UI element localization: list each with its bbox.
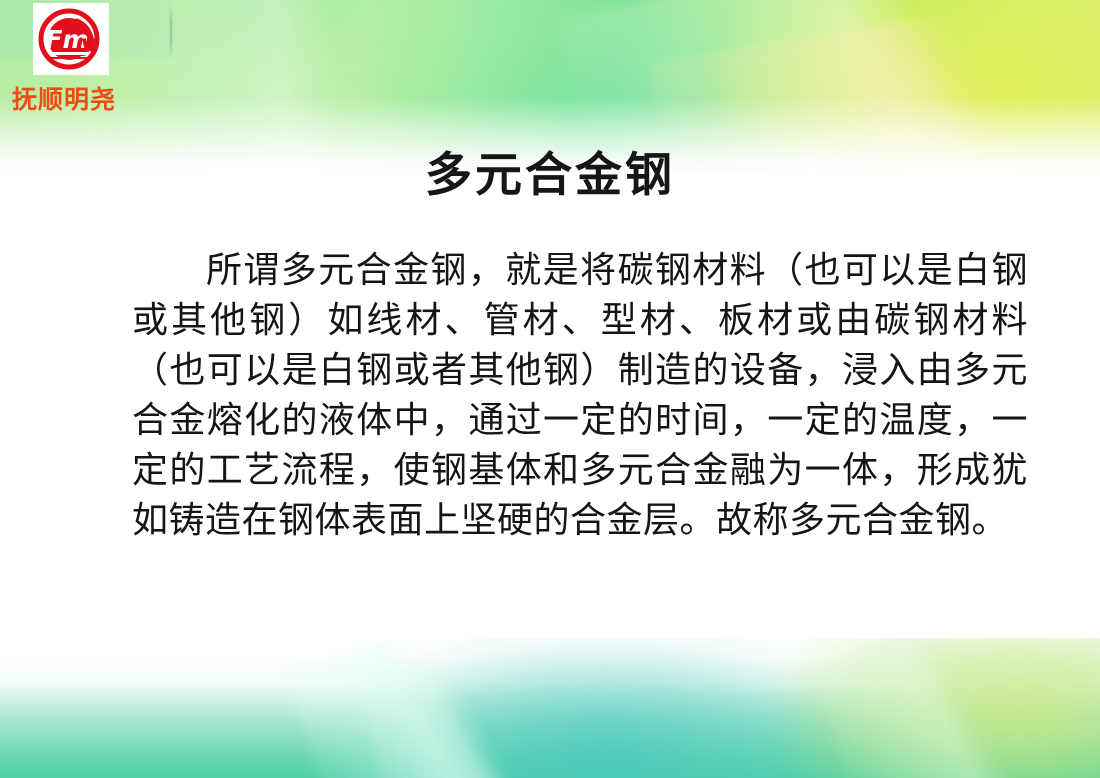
slide-body-paragraph: 所谓多元合金钢，就是将碳钢材料（也可以是白钢或其他钢）如线材、管材、型材、板材或… [0,246,1100,546]
company-logo: Fm y [33,3,109,75]
banner-seam-artifact [170,6,172,58]
company-name-label: 抚顺明尧 [12,80,116,116]
slide-content: 多元合金钢 所谓多元合金钢，就是将碳钢材料（也可以是白钢或其他钢）如线材、管材、… [0,150,1100,546]
slide-title: 多元合金钢 [0,150,1100,202]
slide-canvas: Fm y 抚顺明尧 多元合金钢 所谓多元合金钢，就是将碳钢材料（也可以是白钢或其… [0,0,1100,778]
fmy-circle-logo-icon: Fm y [33,3,109,75]
bottom-decorative-banner [0,638,1100,778]
